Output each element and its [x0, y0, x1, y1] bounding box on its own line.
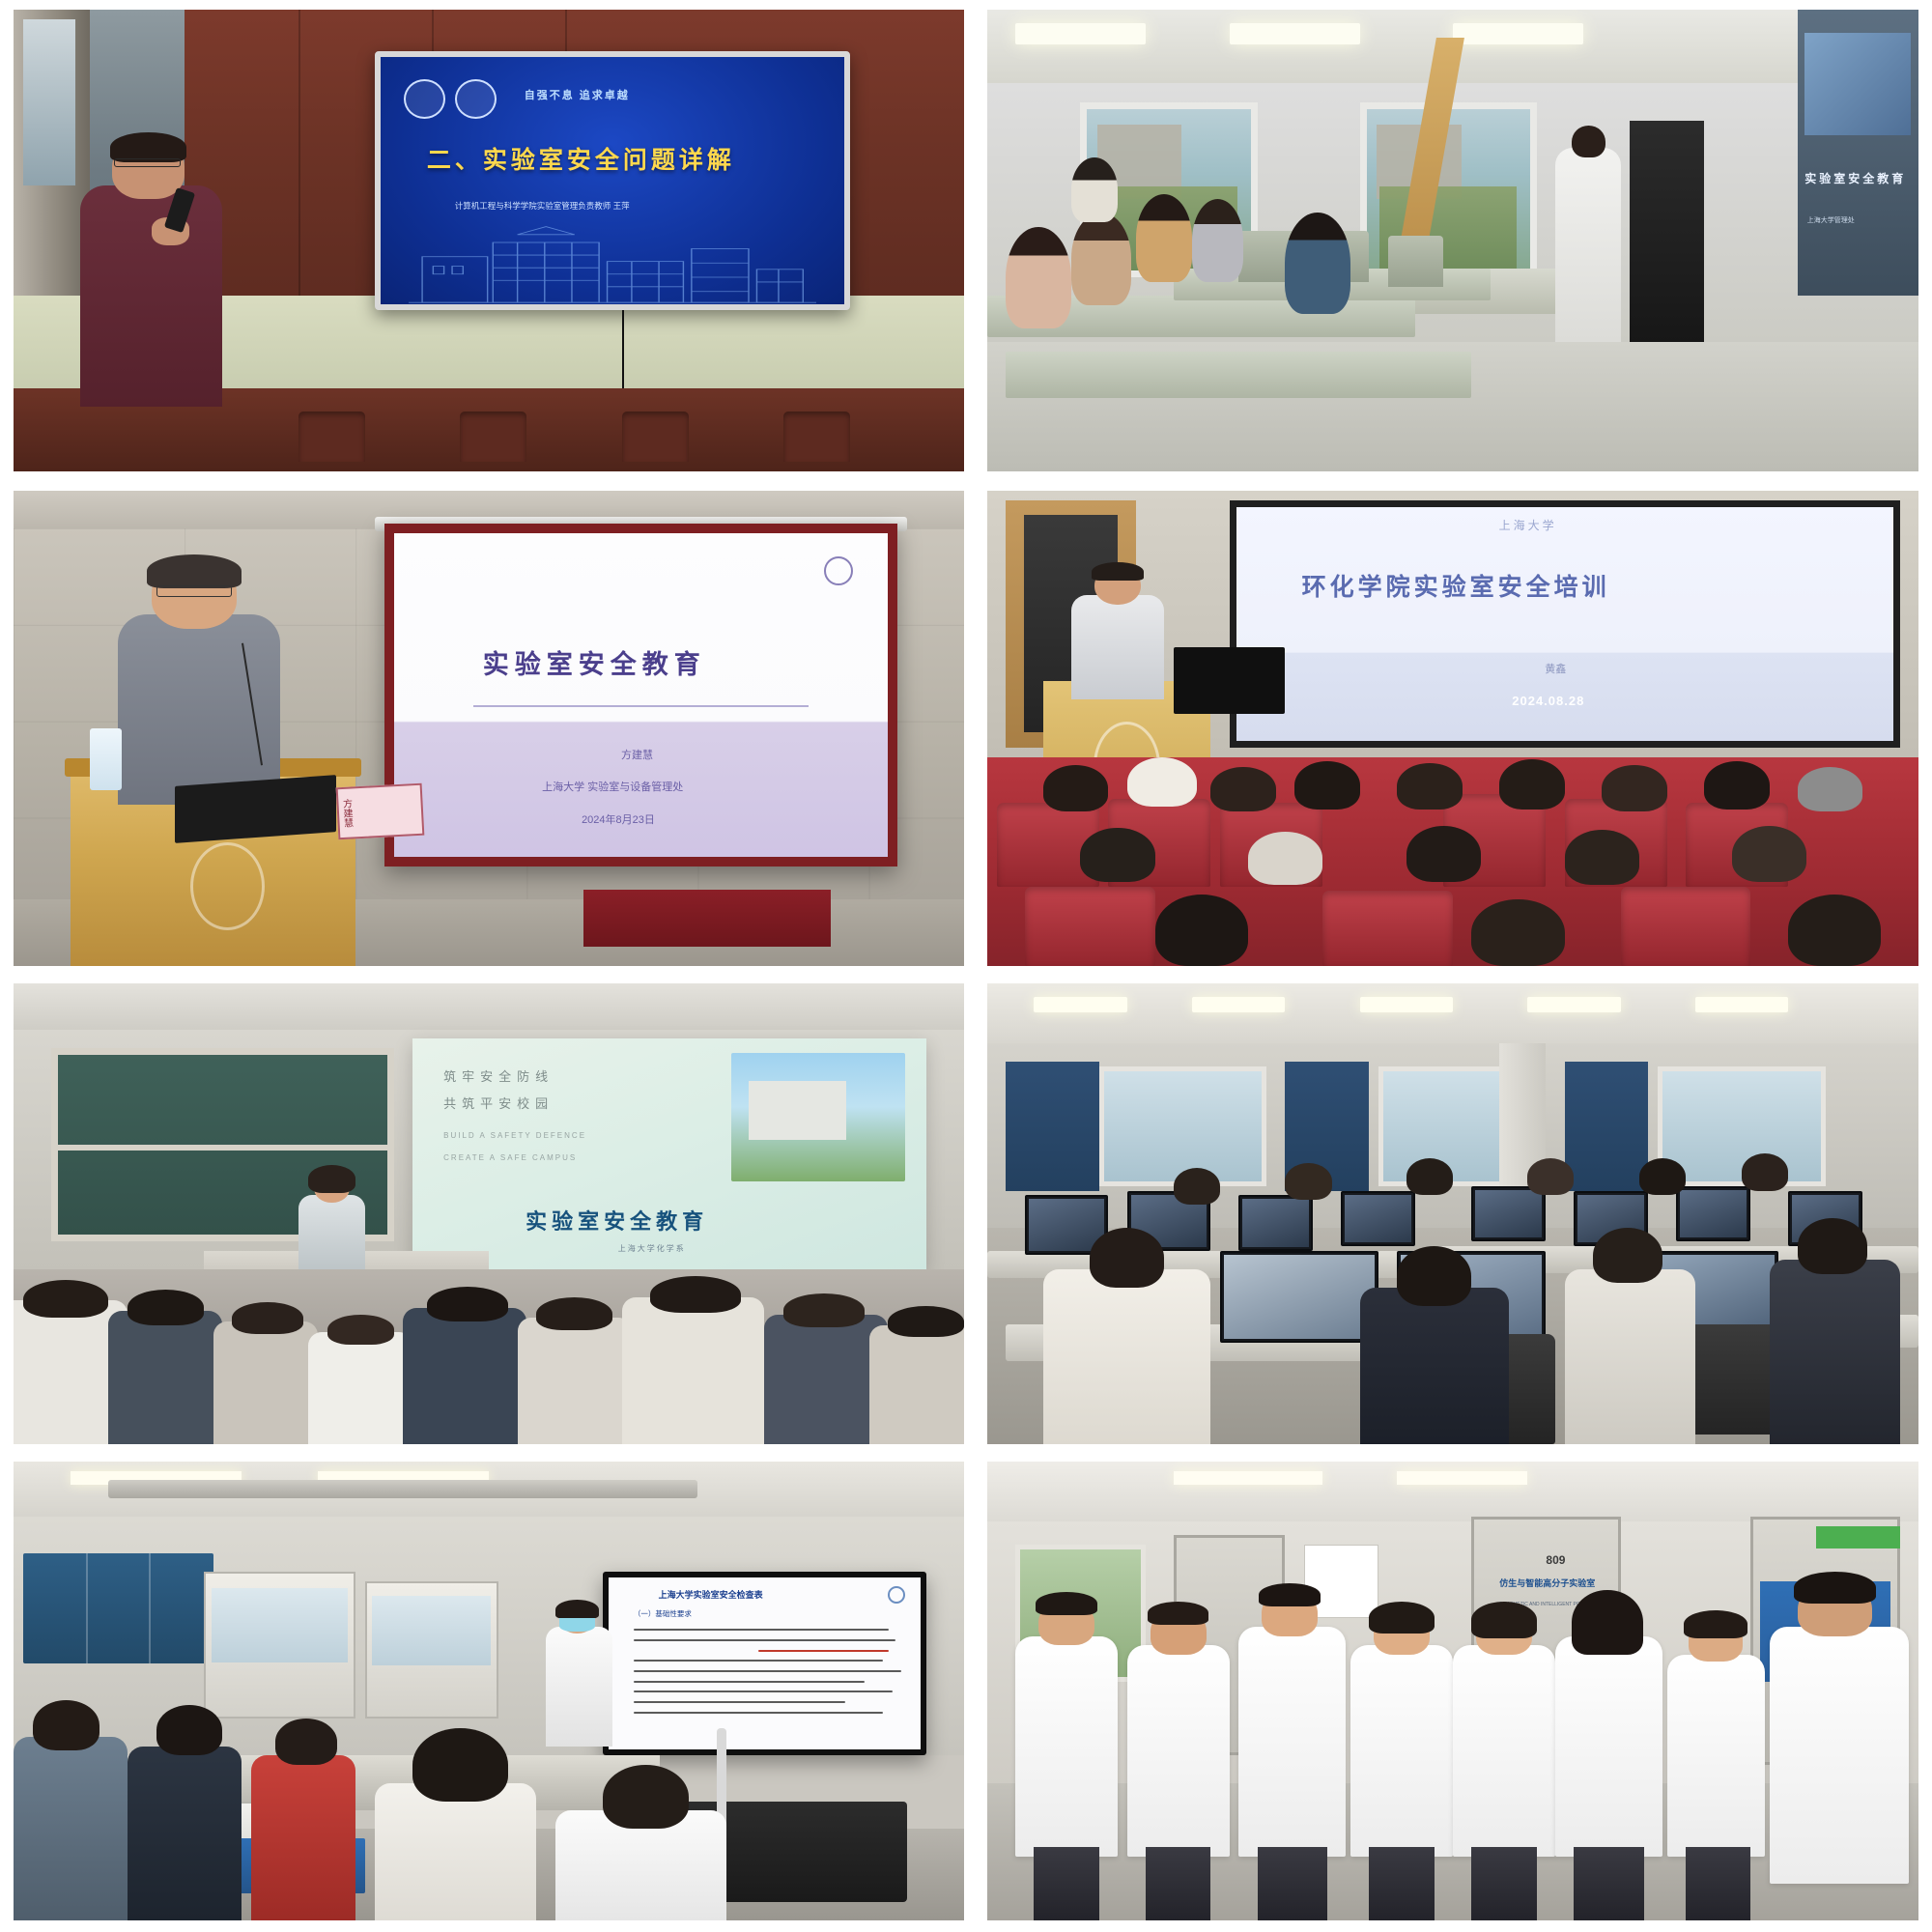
- student-lab-coat: [1127, 1645, 1230, 1857]
- slide-photo: [1804, 33, 1911, 136]
- exit-sign: [1816, 1526, 1900, 1549]
- ventilation-duct: [108, 1480, 697, 1498]
- attendee-head: [1565, 830, 1639, 884]
- monitor: [1341, 1191, 1415, 1246]
- slide-university: 上海大学: [1499, 517, 1557, 533]
- presentation-screen: 自强不息 追求卓越 二、实验室安全问题详解 计算机工程与科学学院实验室管理负责教…: [375, 51, 850, 310]
- slide-headline-en-2: CREATE A SAFE CAMPUS: [443, 1153, 577, 1162]
- ceiling: [987, 983, 1918, 1048]
- university-logo-icon: [824, 556, 853, 585]
- student-lab-coat: [1667, 1655, 1765, 1857]
- attendee: [1006, 227, 1070, 328]
- student-body: [213, 1321, 318, 1444]
- student-body: [108, 1311, 222, 1444]
- lab-name-cn: 仿生与智能高分子实验室: [1499, 1577, 1595, 1589]
- attendee-head: [1397, 763, 1462, 810]
- student-body: [1565, 1269, 1695, 1444]
- photo-cell-7: 上海大学实验室安全检查表 （一）基础性要求: [0, 1454, 978, 1932]
- projection-slide: 筑牢安全防线 共筑平安校园 BUILD A SAFETY DEFENCE CRE…: [412, 1038, 925, 1269]
- photo-2-classroom-session: 实验室安全教育 上海大学管理处: [987, 10, 1918, 471]
- university-emblem-icon: [404, 79, 445, 119]
- participant-head: [412, 1728, 507, 1802]
- attendee: [1285, 213, 1350, 314]
- projection-panel: 实验室安全教育 上海大学管理处: [1798, 10, 1918, 296]
- monitor-foreground: [1220, 1251, 1378, 1343]
- speaker-body: [80, 185, 223, 407]
- face-mask-icon: [559, 1618, 595, 1632]
- attendee-head: [1080, 828, 1154, 882]
- slide-motto: 自强不息 追求卓越: [525, 87, 630, 102]
- student-head: [1798, 1218, 1867, 1273]
- campus-photo-inset: [731, 1053, 906, 1182]
- participant-body: [14, 1737, 128, 1920]
- photo-5-classroom-safety-lecture: 筑牢安全防线 共筑平安校园 BUILD A SAFETY DEFENCE CRE…: [14, 983, 964, 1444]
- water-bottle: [90, 728, 122, 790]
- presenter-head: [1572, 126, 1605, 157]
- audience-area: [14, 1269, 964, 1444]
- slide-presenter: 黄鑫: [1545, 661, 1566, 676]
- student-head: [1593, 1228, 1662, 1283]
- university-logo-icon: [888, 1586, 905, 1604]
- monitor: [1174, 647, 1286, 714]
- student-hair: [1259, 1583, 1321, 1606]
- monitor: [1471, 1186, 1546, 1241]
- attendee-head: [1499, 759, 1564, 810]
- monitor: [1238, 1195, 1313, 1250]
- attendee: [1192, 199, 1243, 282]
- slide-title: 实验室安全教育: [526, 1205, 708, 1236]
- attendee-head: [1798, 767, 1862, 810]
- podium-emblem-icon: [190, 842, 265, 930]
- document-section: （一）基础性要求: [634, 1608, 692, 1619]
- photo-cell-8: 809 仿生与智能高分子实验室 BIOMIMETIC AND INTELLIGE…: [978, 1454, 1932, 1932]
- college-emblem-icon: [455, 79, 497, 119]
- participant-body: [375, 1783, 536, 1921]
- instructor-body: [546, 1627, 612, 1747]
- student-body: [518, 1318, 632, 1444]
- student-hair: [1684, 1610, 1747, 1638]
- attendee-head: [1248, 832, 1322, 884]
- photo-cell-4: 上海大学 环化学院实验室安全培训 黄鑫 2024.08.28: [978, 483, 1932, 976]
- name-plate: 方建慧: [335, 783, 423, 840]
- participant-head: [275, 1719, 337, 1765]
- slide-date: 2024.08.28: [1512, 694, 1584, 708]
- attendee-head: [1704, 761, 1769, 810]
- lecturer-hair: [1092, 562, 1144, 582]
- attendee-head: [1043, 765, 1108, 811]
- projection-screen-frame: 实验室安全教育 方建慧 上海大学 实验室与设备管理处 2024年8月23日: [384, 524, 897, 866]
- instructor-lab-coat: [1770, 1627, 1910, 1884]
- photo-collage-grid: 自强不息 追求卓越 二、实验室安全问题详解 计算机工程与科学学院实验室管理负责教…: [0, 0, 1932, 1932]
- student-body: [622, 1297, 765, 1444]
- photo-8-corridor-labcoat-group: 809 仿生与智能高分子实验室 BIOMIMETIC AND INTELLIGE…: [987, 1462, 1918, 1920]
- slide-affiliation: 上海大学 实验室与设备管理处: [542, 779, 683, 794]
- student-head: [1090, 1228, 1164, 1288]
- student-lab-coat: [1453, 1645, 1555, 1857]
- attendee: [1071, 213, 1132, 305]
- slide-subtitle: 计算机工程与科学学院实验室管理负责教师 王萍: [455, 200, 630, 212]
- student-lab-coat: [1555, 1636, 1662, 1857]
- glasses-icon: [114, 158, 181, 168]
- slide-title: 环化学院实验室安全培训: [1302, 568, 1610, 603]
- equipment-cabinet: [1630, 121, 1704, 342]
- window: [1099, 1066, 1267, 1186]
- student-head: [232, 1302, 303, 1334]
- attendee-head: [1406, 826, 1481, 882]
- attendee-head: [1788, 895, 1881, 966]
- attendee-head: [1210, 767, 1275, 810]
- room-number: 809: [1546, 1553, 1565, 1567]
- cable: [622, 310, 624, 388]
- attendee-head: [1155, 895, 1248, 966]
- student-head: [327, 1315, 394, 1345]
- student-head: [783, 1293, 865, 1326]
- slide-title: 二、实验室安全问题详解: [427, 141, 735, 176]
- student-head: [128, 1290, 204, 1324]
- participant-body: [251, 1755, 355, 1920]
- projection-screen: 上海大学 环化学院实验室安全培训 黄鑫 2024.08.28: [1236, 507, 1893, 741]
- photo-cell-1: 自强不息 追求卓越 二、实验室安全问题详解 计算机工程与科学学院实验室管理负责教…: [0, 0, 978, 483]
- student-hair: [1369, 1602, 1434, 1634]
- participant-body: [128, 1747, 241, 1921]
- slide-headline-en-1: BUILD A SAFETY DEFENCE: [443, 1131, 586, 1140]
- glasses-icon: [156, 585, 233, 597]
- student-hair: [1148, 1602, 1209, 1625]
- student-head: [1527, 1158, 1574, 1195]
- student-lab-coat: [1350, 1645, 1453, 1857]
- side-table: [583, 890, 831, 947]
- student-body: [1360, 1288, 1509, 1444]
- student-head: [650, 1276, 740, 1313]
- teacher-hair: [308, 1165, 355, 1193]
- student-lab-coat: [1238, 1627, 1346, 1857]
- document-title: 上海大学实验室安全检查表: [659, 1588, 763, 1601]
- instructor-hair: [1794, 1572, 1876, 1604]
- slide-presenter: 方建慧: [621, 747, 653, 762]
- student-head: [1406, 1158, 1453, 1195]
- slide-organization: 上海大学化学系: [618, 1243, 686, 1254]
- slide-subtitle: 上海大学管理处: [1807, 215, 1855, 225]
- student-hair: [1471, 1602, 1536, 1638]
- student-head: [1639, 1158, 1686, 1195]
- photo-cell-2: 实验室安全教育 上海大学管理处: [978, 0, 1932, 483]
- attendee-head: [1127, 757, 1197, 808]
- name-plate-text: 方建慧: [338, 798, 355, 828]
- slide-headline-cn-2: 共筑平安校园: [443, 1094, 554, 1112]
- attendee-head: [1294, 761, 1359, 810]
- fume-hood: [365, 1581, 498, 1719]
- slide-title: 实验室安全教育: [1804, 170, 1906, 186]
- slide-headline-cn-1: 筑牢安全防线: [443, 1066, 554, 1085]
- student-head: [23, 1280, 109, 1319]
- photo-cell-6: [978, 976, 1932, 1454]
- student-head: [1742, 1153, 1788, 1190]
- student-hair: [1036, 1592, 1097, 1615]
- photo-6-computer-lab-exam: [987, 983, 1918, 1444]
- student-head: [1285, 1163, 1331, 1200]
- ceiling: [14, 983, 964, 1034]
- photo-1-auditorium-lecture: 自强不息 追求卓越 二、实验室安全问题详解 计算机工程与科学学院实验室管理负责教…: [14, 10, 964, 471]
- student-body: [403, 1308, 526, 1444]
- presenter: [1555, 148, 1620, 342]
- teacher-body: [298, 1195, 365, 1278]
- window: [23, 19, 75, 185]
- student-head: [536, 1297, 612, 1330]
- photo-7-lab-onsite-training: 上海大学实验室安全检查表 （一）基础性要求: [14, 1462, 964, 1920]
- student-body: [869, 1325, 964, 1444]
- attendee-head: [1732, 826, 1806, 882]
- display-screen: 上海大学实验室安全检查表 （一）基础性要求: [609, 1577, 921, 1749]
- photo-4-lecture-hall-training: 上海大学 环化学院实验室安全培训 黄鑫 2024.08.28: [987, 491, 1918, 966]
- student-lab-coat: [1015, 1636, 1118, 1857]
- participant-head: [156, 1705, 223, 1755]
- touch-display: 上海大学实验室安全检查表 （一）基础性要求: [603, 1572, 926, 1755]
- student-head: [888, 1306, 964, 1338]
- lecturer-body: [1071, 595, 1164, 699]
- seating-area: [987, 757, 1918, 966]
- slide-date: 2024年8月23日: [582, 811, 655, 827]
- participant-head: [603, 1765, 689, 1830]
- projection-screen: 实验室安全教育 方建慧 上海大学 实验室与设备管理处 2024年8月23日: [394, 533, 888, 856]
- campus-linework-graphic: [409, 225, 816, 304]
- student-body: [1770, 1260, 1900, 1444]
- fume-hood: [204, 1572, 355, 1719]
- attendee: [1071, 157, 1118, 222]
- monitor: [1676, 1186, 1750, 1241]
- student-head: [1397, 1246, 1471, 1306]
- student-body: [1043, 1269, 1211, 1444]
- presenter-body: [118, 614, 279, 805]
- photo-cell-3: 实验室安全教育 方建慧 上海大学 实验室与设备管理处 2024年8月23日 方建…: [0, 483, 978, 976]
- laptop: [175, 775, 336, 843]
- wall-cabinet: [23, 1553, 213, 1663]
- student-head: [427, 1287, 508, 1321]
- attendee-head: [1602, 765, 1666, 811]
- photo-3-podium-presentation: 实验室安全教育 方建慧 上海大学 实验室与设备管理处 2024年8月23日 方建…: [14, 491, 964, 966]
- projection-screen-frame: 上海大学 环化学院实验室安全培训 黄鑫 2024.08.28: [1230, 500, 1900, 748]
- presenter-hair: [147, 554, 241, 587]
- attendee: [1136, 194, 1192, 282]
- attendee-head: [1471, 899, 1564, 966]
- instructor-hair: [555, 1600, 599, 1620]
- slide-title: 实验室安全教育: [483, 643, 706, 681]
- student-body: [308, 1332, 412, 1444]
- student-head: [1174, 1168, 1220, 1205]
- photo-cell-5: 筑牢安全防线 共筑平安校园 BUILD A SAFETY DEFENCE CRE…: [0, 976, 978, 1454]
- student-hair: [1572, 1590, 1642, 1655]
- participant-head: [33, 1700, 99, 1750]
